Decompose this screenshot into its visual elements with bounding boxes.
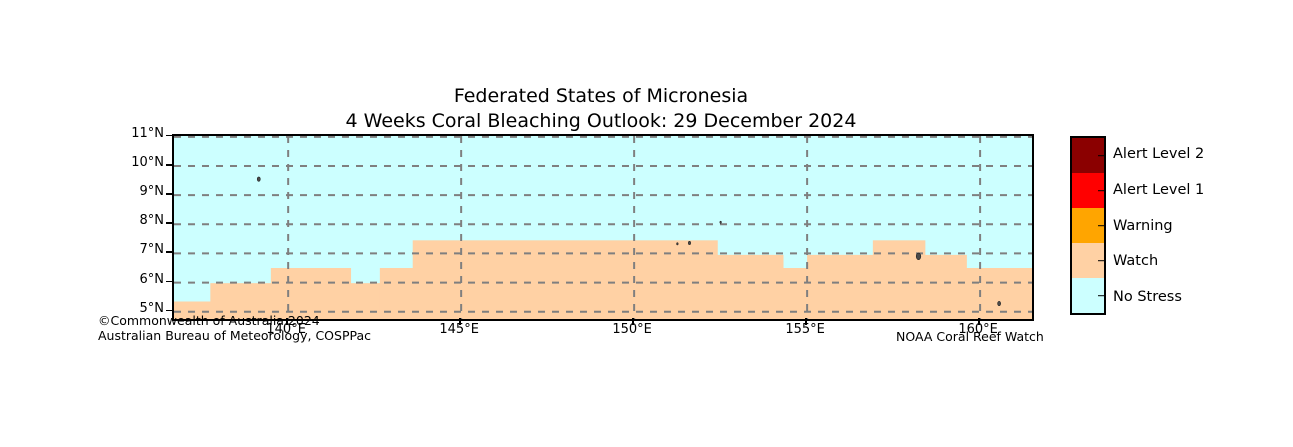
legend-tick-mark <box>1098 225 1105 227</box>
region-watch-9 <box>873 240 925 319</box>
y-tick-label: 6°N <box>96 272 164 287</box>
y-tick-mark <box>166 135 173 137</box>
y-tick-mark <box>166 164 173 166</box>
attribution-noaa: NOAA Coral Reef Watch <box>896 329 1044 344</box>
legend-tick-mark <box>1098 190 1105 192</box>
x-tick-mark <box>978 318 980 325</box>
y-tick-mark <box>166 281 173 283</box>
island-mark-chuuk-b-icon <box>688 241 690 244</box>
page-title: Federated States of Micronesia <box>172 84 1030 109</box>
map-canvas <box>174 136 1032 319</box>
legend-tick-mark <box>1098 155 1105 157</box>
y-tick-mark <box>166 222 173 224</box>
legend-label-warning: Warning <box>1113 218 1173 234</box>
legend-swatch-watch <box>1072 243 1104 278</box>
region-watch-8 <box>807 255 873 319</box>
region-watch-10 <box>925 255 967 319</box>
legend-label-no-stress: No Stress <box>1113 289 1182 305</box>
x-tick-mark <box>459 318 461 325</box>
legend-colorbar <box>1070 136 1106 315</box>
y-tick-label: 8°N <box>96 213 164 228</box>
coral-bleaching-outlook-figure: Federated States of Micronesia 4 Weeks C… <box>0 0 1293 447</box>
region-watch-2 <box>271 268 351 319</box>
island-mark-north-icon <box>257 177 260 181</box>
page-subtitle: 4 Weeks Coral Bleaching Outlook: 29 Dece… <box>172 109 1030 134</box>
x-tick-mark <box>632 318 634 325</box>
chart-title-block: Federated States of Micronesia 4 Weeks C… <box>172 84 1030 134</box>
x-tick-mark <box>805 318 807 325</box>
legend-label-alert-level-1: Alert Level 1 <box>1113 182 1204 198</box>
y-tick-mark <box>166 251 173 253</box>
legend-label-watch: Watch <box>1113 253 1158 269</box>
legend-label-alert-level-2: Alert Level 2 <box>1113 146 1204 162</box>
y-tick-label: 10°N <box>96 155 164 170</box>
y-tick-mark <box>166 193 173 195</box>
region-watch-5 <box>413 240 718 319</box>
legend-swatch-alert-level-1 <box>1072 173 1104 208</box>
map-plot-area <box>172 134 1034 321</box>
legend-swatch-alert-level-2 <box>1072 138 1104 173</box>
attribution-copyright: ©Commonwealth of Australia 2024 <box>98 314 371 329</box>
legend-tick-mark <box>1098 295 1105 297</box>
legend-swatch-no-stress <box>1072 278 1104 313</box>
y-tick-label: 7°N <box>96 242 164 257</box>
legend-swatch-warning <box>1072 208 1104 243</box>
region-watch-6 <box>717 255 783 319</box>
island-mark-central-icon <box>720 221 722 223</box>
attribution-agency: Australian Bureau of Meteorology, COSPPa… <box>98 329 371 344</box>
island-mark-kosrae-icon <box>998 301 1001 305</box>
attribution-left: ©Commonwealth of Australia 2024 Australi… <box>98 314 371 343</box>
legend-tick-mark <box>1098 260 1105 262</box>
island-mark-pohnpei-icon <box>916 253 921 260</box>
y-tick-label: 11°N <box>96 126 164 141</box>
y-tick-label: 9°N <box>96 184 164 199</box>
island-mark-chuuk-a-icon <box>677 243 679 245</box>
y-tick-mark <box>166 310 173 312</box>
